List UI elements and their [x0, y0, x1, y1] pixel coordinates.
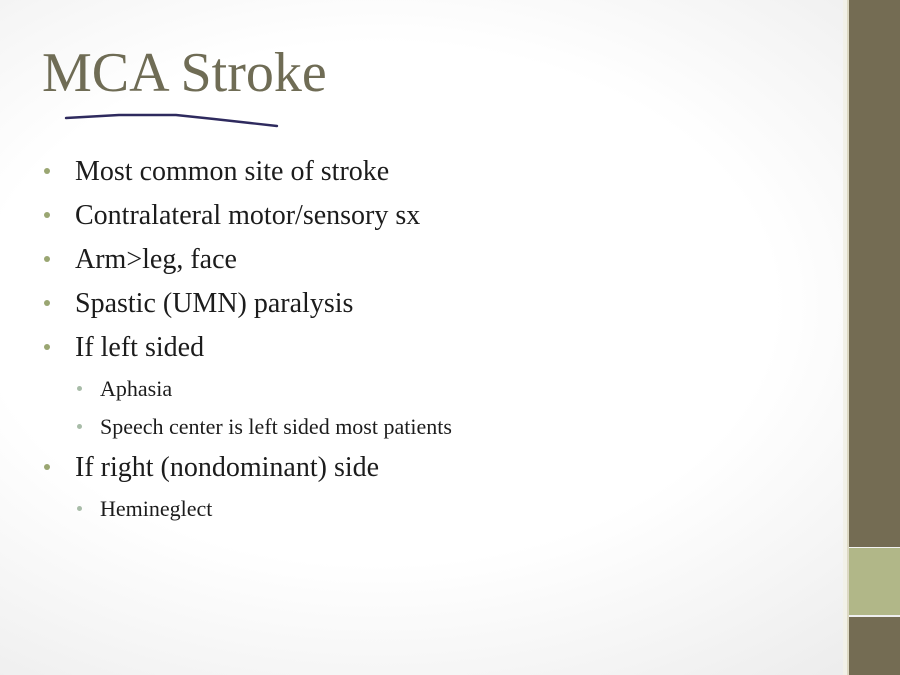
sub-bullet-dot-icon [77, 424, 82, 429]
list-item-label: Hemineglect [100, 496, 212, 522]
sub-bullet-dot-icon [77, 506, 82, 511]
slide-canvas: MCA Stroke Most common site of stroke Co… [0, 0, 900, 675]
sidebar-upper-dark-bar [849, 0, 900, 547]
list-item-label: Arm>leg, face [75, 244, 237, 276]
list-item: Aphasia [44, 376, 804, 414]
bullet-dot-icon [44, 212, 50, 218]
list-item: If right (nondominant) side [44, 452, 804, 496]
list-item: Spastic (UMN) paralysis [44, 288, 804, 332]
list-item-label: If left sided [75, 332, 204, 364]
list-item: Hemineglect [44, 496, 804, 534]
sub-bullet-dot-icon [77, 386, 82, 391]
page-title: MCA Stroke [42, 44, 327, 103]
bullet-list: Most common site of stroke Contralateral… [44, 156, 804, 534]
sidebar-lower-dark-bar [849, 617, 900, 675]
list-item: Arm>leg, face [44, 244, 804, 288]
bullet-dot-icon [44, 168, 50, 174]
bullet-dot-icon [44, 344, 50, 350]
list-item-label: Spastic (UMN) paralysis [75, 288, 353, 320]
list-item-label: If right (nondominant) side [75, 452, 379, 484]
list-item: If left sided [44, 332, 804, 376]
list-item-label: Most common site of stroke [75, 156, 389, 188]
sidebar-sage-accent-bar [849, 548, 900, 615]
bullet-dot-icon [44, 256, 50, 262]
title-underline-scribble [64, 106, 279, 134]
bullet-dot-icon [44, 464, 50, 470]
bullet-dot-icon [44, 300, 50, 306]
list-item: Speech center is left sided most patient… [44, 414, 804, 452]
list-item: Most common site of stroke [44, 156, 804, 200]
list-item-label: Aphasia [100, 376, 172, 402]
list-item-label: Speech center is left sided most patient… [100, 414, 452, 440]
list-item-label: Contralateral motor/sensory sx [75, 200, 420, 232]
list-item: Contralateral motor/sensory sx [44, 200, 804, 244]
decorative-sidebar [843, 0, 900, 675]
